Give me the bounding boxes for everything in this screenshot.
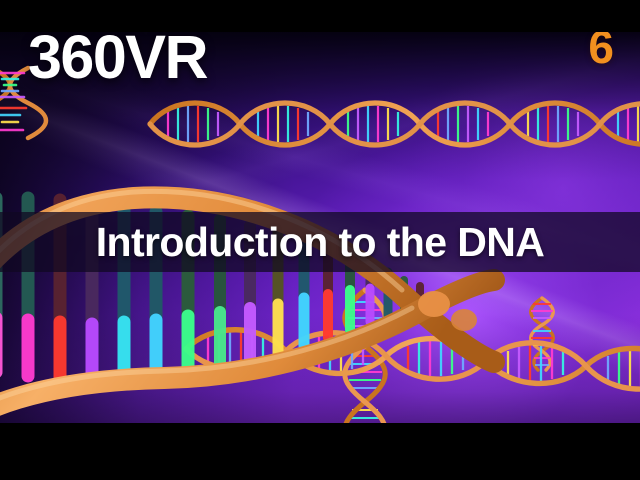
series-title: 360VR <box>28 27 207 88</box>
video-frame: Introduction to the DNA 360VR 6 © 2018IN… <box>0 0 640 480</box>
lesson-title: Introduction to the DNA <box>0 212 640 272</box>
dna-helix-foreground <box>0 154 494 423</box>
letterbox-top <box>0 0 640 32</box>
dna-strand-upper <box>150 88 640 160</box>
letterbox-bottom <box>0 423 640 480</box>
